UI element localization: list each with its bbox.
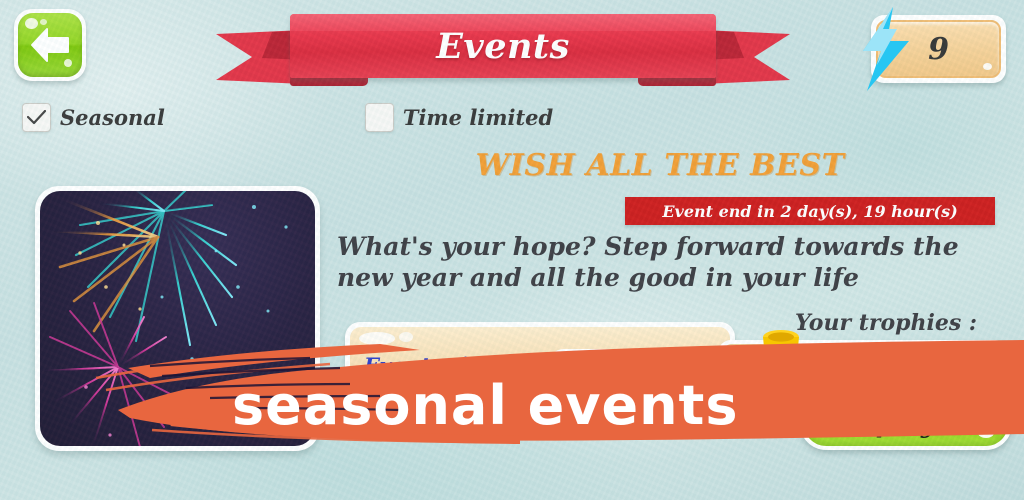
trophy-cup-icon	[758, 328, 804, 372]
event-mini-card-button[interactable]	[547, 349, 722, 383]
event-thumbnail[interactable]	[35, 186, 320, 451]
back-arrow-icon	[29, 27, 71, 63]
event-mini-card-name: Event mini-game	[364, 353, 564, 378]
checkbox-seasonal[interactable]	[22, 103, 51, 132]
filter-time-limited[interactable]: Time limited	[365, 103, 553, 132]
filter-time-limited-label: Time limited	[403, 105, 553, 130]
back-button[interactable]	[14, 9, 86, 81]
event-filters: Seasonal Time limited	[22, 103, 553, 132]
event-end-notice: Event end in 2 day(s), 19 hour(s)	[625, 197, 995, 225]
fireworks-graphic	[40, 191, 315, 446]
event-mini-card-body: Event mini-game	[350, 327, 730, 403]
event-title: WISH ALL THE BEST	[470, 148, 850, 183]
app-screen: Events 9 Seasonal Time limited	[0, 0, 1024, 500]
back-button-face	[18, 13, 82, 77]
energy-value: 9	[928, 32, 949, 67]
trophies-count: 0	[856, 351, 869, 373]
filter-seasonal[interactable]: Seasonal	[22, 103, 165, 132]
play-button-label: play	[876, 409, 936, 439]
event-mini-card[interactable]: Event mini-game	[345, 322, 735, 408]
event-end-notice-text: Event end in 2 day(s), 19 hour(s)	[662, 202, 957, 221]
fireworks-image	[40, 191, 315, 446]
check-icon	[27, 110, 46, 125]
title-ribbon: Events	[216, 6, 790, 92]
page-title: Events	[290, 14, 716, 78]
trophies-label: Your trophies :	[795, 310, 977, 336]
checkbox-time-limited[interactable]	[365, 103, 394, 132]
filter-seasonal-label: Seasonal	[60, 105, 165, 130]
play-button-face: play	[804, 402, 1008, 446]
energy-badge[interactable]: 9	[861, 13, 1006, 83]
play-button[interactable]: play	[800, 398, 1012, 450]
event-description: What's your hope? Step forward towards t…	[337, 232, 997, 293]
lightning-bolt-icon	[857, 7, 915, 91]
